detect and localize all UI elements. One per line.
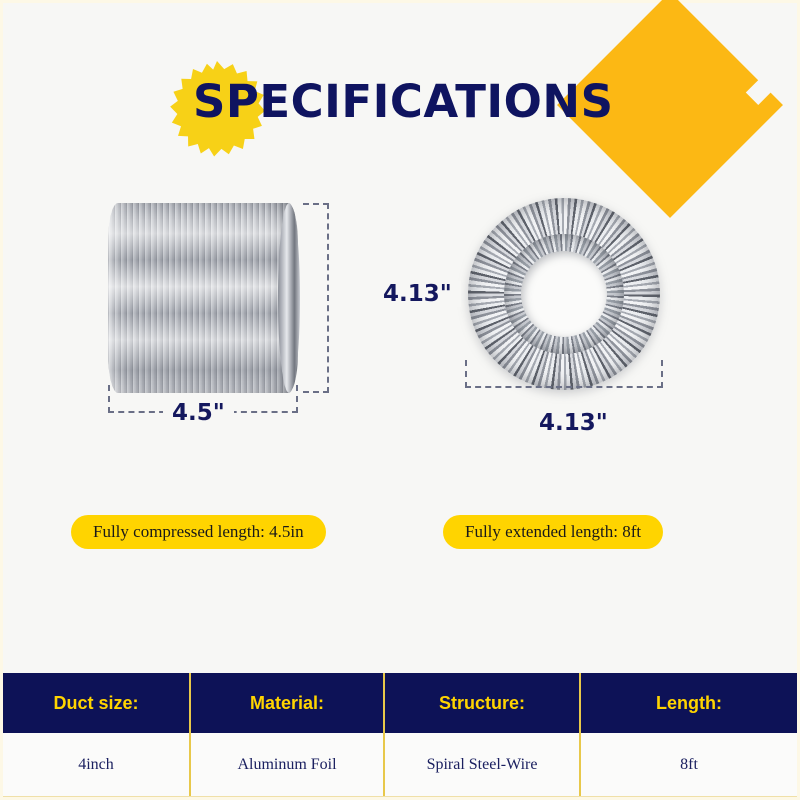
left-width-dimension-label: 4.5" <box>163 400 234 426</box>
compressed-duct-side-view-image <box>108 203 298 393</box>
right-diameter-label-bottom: 4.13" <box>530 410 617 436</box>
table-header-duct-size: Duct size: <box>3 673 191 733</box>
right-diameter-label-left: 4.13" <box>374 281 461 307</box>
table-cell-length: 8ft <box>581 733 797 796</box>
table-cell-duct-size: 4inch <box>3 733 191 796</box>
right-diameter-dimension-bracket <box>465 360 663 388</box>
page-title: SPECIFICATIONS <box>193 75 614 128</box>
left-height-dimension-bracket <box>303 203 329 393</box>
table-cell-structure: Spiral Steel-Wire <box>385 733 581 796</box>
table-header-structure: Structure: <box>385 673 581 733</box>
specifications-table: Duct size: Material: Structure: Length: … <box>3 673 797 797</box>
badge-compressed-length: Fully compressed length: 4.5in <box>71 515 326 549</box>
header-section: SPECIFICATIONS <box>3 3 800 203</box>
table-header-material: Material: <box>191 673 385 733</box>
table-cell-material: Aluminum Foil <box>191 733 385 796</box>
table-row: 4inch Aluminum Foil Spiral Steel-Wire 8f… <box>3 733 797 797</box>
badge-compressed-length-label: Fully compressed length: 4.5in <box>93 522 304 542</box>
badge-extended-length: Fully extended length: 8ft <box>443 515 663 549</box>
badge-extended-length-label: Fully extended length: 8ft <box>465 522 641 542</box>
table-header-length: Length: <box>581 673 797 733</box>
product-showcase: 4.5" 4.13" 4.13" <box>3 188 800 478</box>
table-header-row: Duct size: Material: Structure: Length: <box>3 673 797 733</box>
infographic-page: SPECIFICATIONS 4.5" 4.13" 4.13" Fully co… <box>0 0 800 800</box>
